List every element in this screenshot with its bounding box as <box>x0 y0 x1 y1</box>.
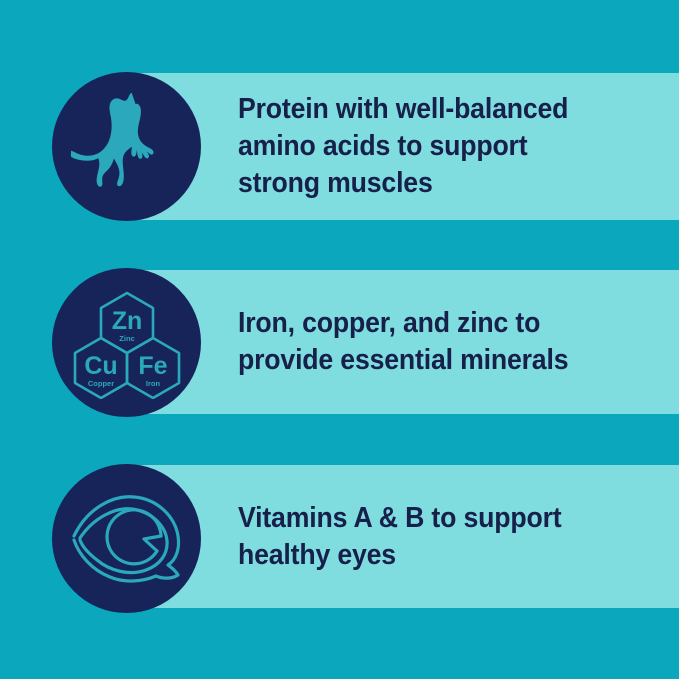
feature-text-line: provide essential minerals <box>238 342 622 379</box>
element-name-zinc: Zinc <box>119 334 134 343</box>
element-symbol-cu: Cu <box>84 352 117 380</box>
feature-text-minerals: Iron, copper, and zinc to provide essent… <box>238 305 622 379</box>
feature-text-vitamins: Vitamins A & B to support healthy eyes <box>238 500 622 574</box>
icon-badge-vitamins <box>52 464 201 613</box>
element-name-copper: Copper <box>87 379 113 388</box>
dog-silhouette-icon <box>71 91 183 203</box>
feature-text-line: healthy eyes <box>238 537 622 574</box>
feature-text-line: amino acids to support <box>238 128 622 165</box>
element-name-iron: Iron <box>145 379 160 388</box>
feature-row-vitamins: Vitamins A & B to support healthy eyes <box>0 464 679 610</box>
icon-badge-protein <box>52 72 201 221</box>
feature-text-protein: Protein with well-balanced amino acids t… <box>238 91 622 202</box>
element-symbol-zn: Zn <box>111 307 142 335</box>
feature-row-minerals: Zn Zinc Cu Copper Fe Iron Iron, copper, … <box>0 268 679 416</box>
minerals-hexagon-icon: Zn Zinc Cu Copper Fe Iron <box>69 287 185 399</box>
feature-text-line: Vitamins A & B to support <box>238 500 622 537</box>
feature-text-line: strong muscles <box>238 165 622 202</box>
feature-text-line: Iron, copper, and zinc to <box>238 305 622 342</box>
element-symbol-fe: Fe <box>138 352 167 380</box>
feature-text-line: Protein with well-balanced <box>238 91 622 128</box>
feature-row-protein: Protein with well-balanced amino acids t… <box>0 72 679 221</box>
icon-badge-minerals: Zn Zinc Cu Copper Fe Iron <box>52 268 201 417</box>
infographic-panel: Protein with well-balanced amino acids t… <box>0 0 679 679</box>
eye-icon <box>68 491 186 587</box>
